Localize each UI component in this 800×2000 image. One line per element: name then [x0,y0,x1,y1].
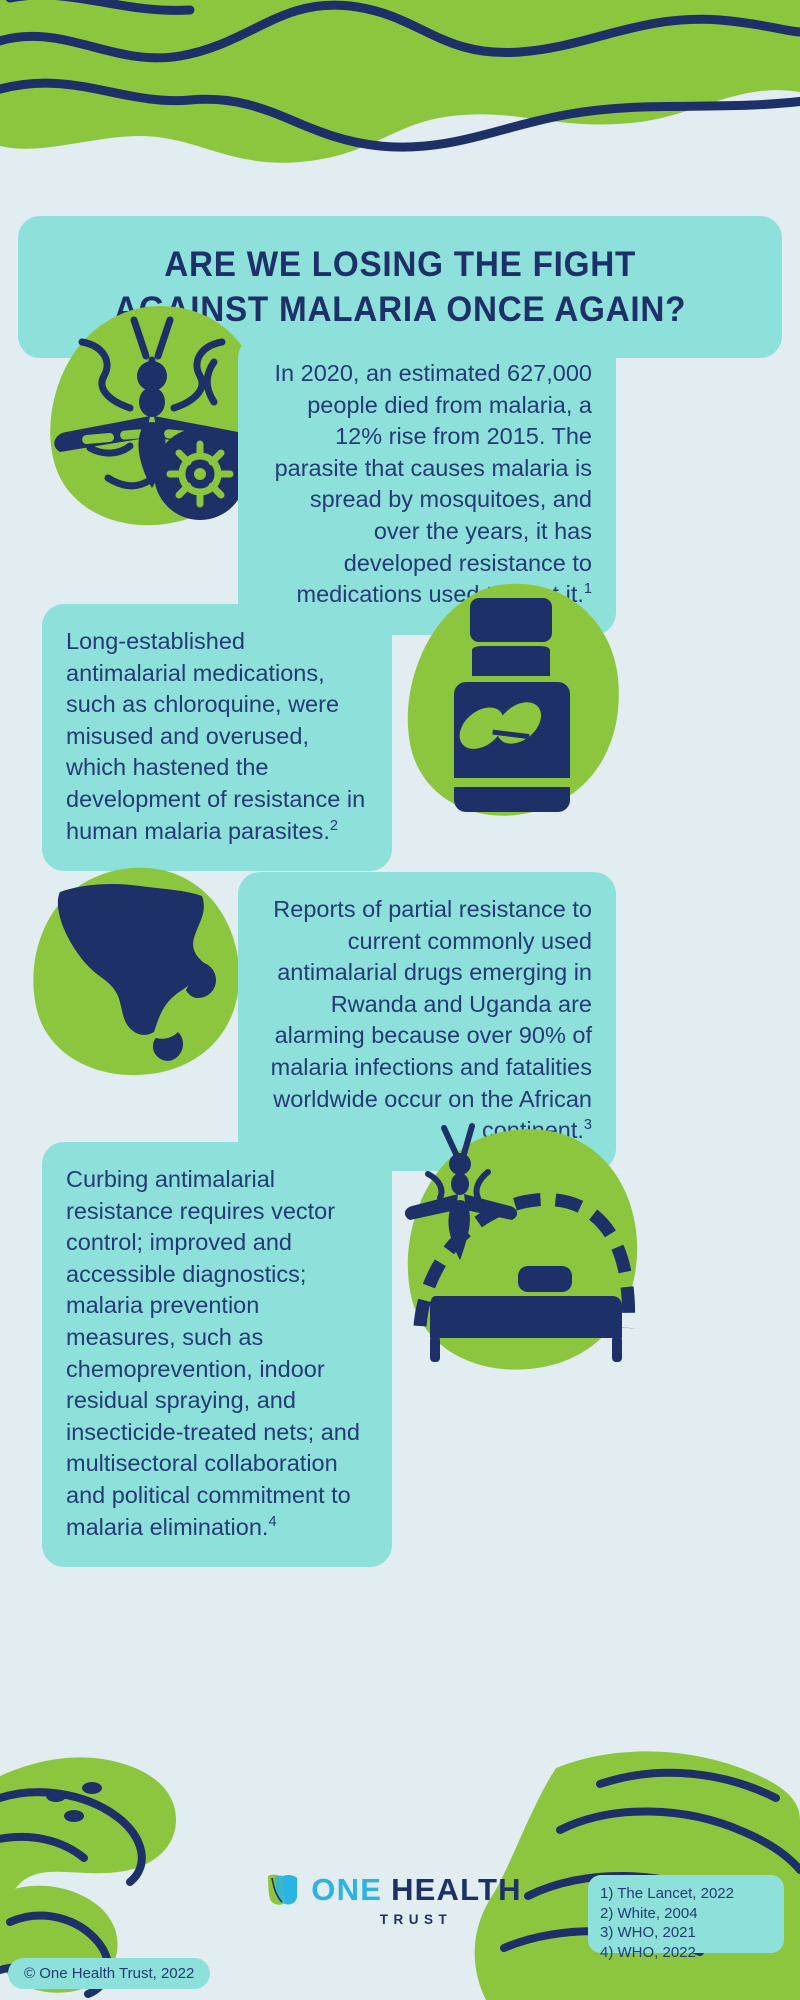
card-medication-body: Long-established antimalarial medication… [66,628,365,844]
infographic-page: ARE WE LOSING THE FIGHT AGAINST MALARIA … [0,0,800,2000]
reference-item: 4) WHO, 2022 [600,1943,772,1963]
africa-map-icon [16,862,252,1082]
mosquito-net-bed-icon [386,1114,646,1382]
copyright-text: © One Health Trust, 2022 [24,1965,194,1982]
pill-bottle-icon [398,578,630,826]
card-prevention-footnote: 4 [268,1514,276,1530]
logo-trust-text: TRUST [380,1912,453,1927]
logo-one-text: ONE [311,1872,382,1908]
card-prevention: Curbing antimalarial resistance requires… [42,1142,392,1567]
card-prevention-body: Curbing antimalarial resistance requires… [66,1166,360,1540]
reference-item: 2) White, 2004 [600,1904,772,1924]
card-medication-footnote: 2 [330,818,338,834]
reference-item: 3) WHO, 2021 [600,1923,772,1943]
card-mosquito-body: In 2020, an estimated 627,000 people die… [275,360,593,607]
card-africa-body: Reports of partial resistance to current… [271,896,592,1143]
logo-health-text: HEALTH [391,1872,522,1908]
footer-logo[interactable]: ONE HEALTH TRUST [258,1872,528,1942]
top-wave-decoration [0,0,800,206]
reference-item: 1) The Lancet, 2022 [600,1884,772,1904]
one-health-trust-leaf-logo [264,1872,302,1908]
card-medication: Long-established antimalarial medication… [42,604,392,871]
references-box: 1) The Lancet, 2022 2) White, 2004 3) WH… [588,1875,784,1953]
copyright-badge: © One Health Trust, 2022 [8,1958,210,1989]
